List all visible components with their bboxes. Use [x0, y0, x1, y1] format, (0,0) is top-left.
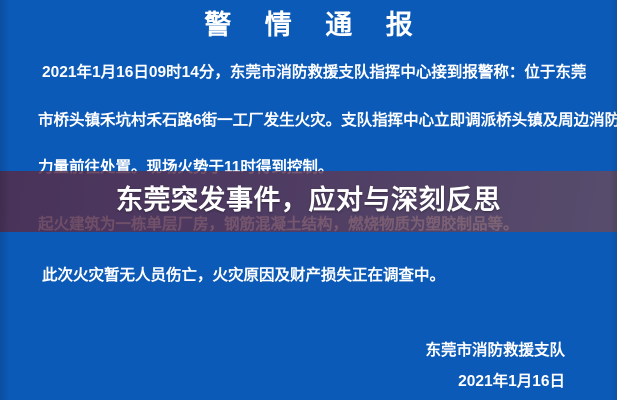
- body-paragraph-line-1: 2021年1月16日09时14分，东莞市消防救援支队指挥中心接到报警称：位于东莞: [42, 62, 598, 84]
- signature-date: 2021年1月16日: [458, 371, 565, 393]
- page-title: 警 情 通 报: [0, 8, 617, 42]
- news-poster: 警 情 通 报 2021年1月16日09时14分，东莞市消防救援支队指挥中心接到…: [0, 0, 617, 400]
- body-paragraph-line-5: 此次火灾暂无人员伤亡，火灾原因及财产损失正在调查中。: [42, 265, 598, 287]
- overlay-headline: 东莞突发事件，应对与深刻反思: [0, 181, 617, 219]
- signature-organization: 东莞市消防救援支队: [425, 340, 565, 362]
- body-paragraph-line-2: 市桥头镇禾坑村禾石路6街一工厂发生火灾。支队指挥中心立即调派桥头镇及周边消防: [38, 110, 594, 132]
